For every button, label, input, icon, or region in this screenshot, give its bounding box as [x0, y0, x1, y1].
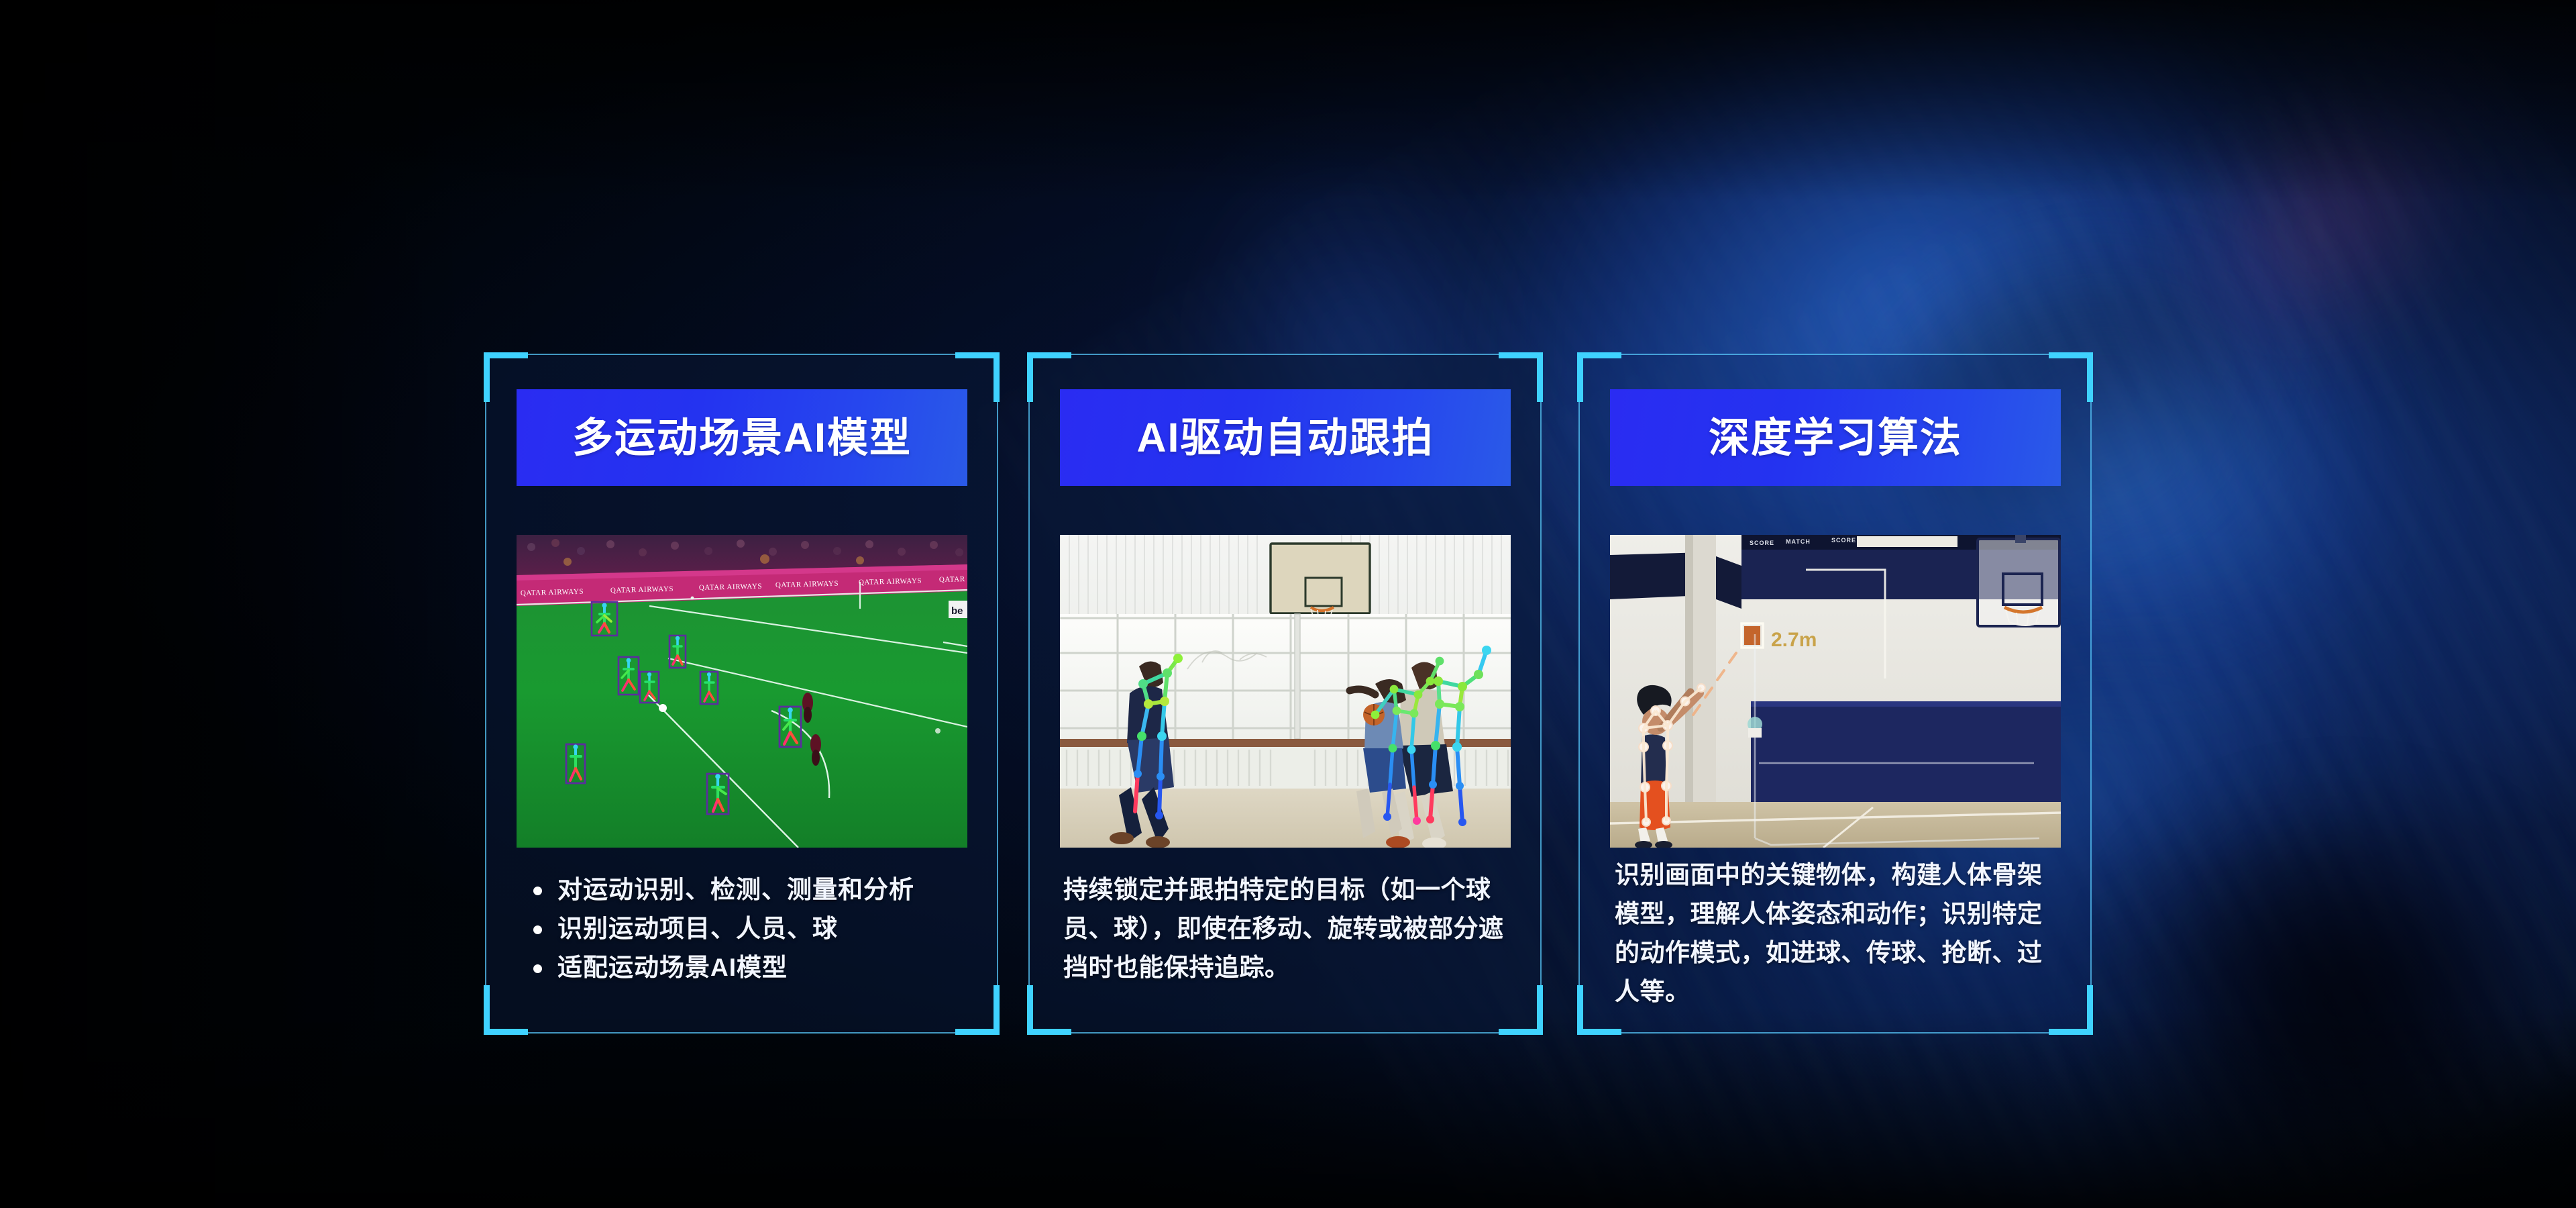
svg-text:QATAR AIRWAYS: QATAR AIRWAYS [699, 583, 762, 592]
svg-text:SCORE: SCORE [1750, 540, 1774, 546]
card-title: AI驱动自动跟拍 [1136, 417, 1434, 458]
court-scene-svg: SCOREMATCHSCORE [1610, 535, 2061, 848]
card-header-bar: 深度学习算法 [1610, 389, 2061, 486]
card-body: 对运动识别、检测、测量和分析 识别运动项目、人员、球 适配运动场景AI模型 [516, 870, 972, 987]
card-title: 多运动场景AI模型 [572, 417, 912, 458]
svg-text:QATAR: QATAR [939, 575, 965, 584]
soccer-scene-svg: QATAR AIRWAYS QATAR AIRWAYS QATAR AIRWAY… [517, 535, 967, 848]
svg-text:MATCH: MATCH [1786, 538, 1811, 545]
card-body: 持续锁定并跟拍特定的目标（如一个球员、球），即使在移动、旋转或被部分遮挡时也能保… [1059, 870, 1515, 987]
svg-text:QATAR AIRWAYS: QATAR AIRWAYS [521, 588, 584, 597]
svg-text:QATAR AIRWAYS: QATAR AIRWAYS [610, 585, 674, 595]
soccer-pose-detection-image: QATAR AIRWAYS QATAR AIRWAYS QATAR AIRWAY… [517, 535, 967, 848]
feature-card-deep-learning-algorithm[interactable]: 深度学习算法 [1578, 354, 2092, 1034]
svg-text:QATAR AIRWAYS: QATAR AIRWAYS [859, 577, 922, 587]
card-title: 深度学习算法 [1709, 417, 1962, 458]
feature-bullet-list: 对运动识别、检测、测量和分析 识别运动项目、人员、球 适配运动场景AI模型 [516, 870, 972, 987]
feature-card-ai-auto-tracking[interactable]: AI驱动自动跟拍 [1028, 354, 1542, 1034]
list-item: 识别运动项目、人员、球 [516, 909, 972, 948]
svg-text:be: be [951, 605, 963, 617]
card-header-bar: AI驱动自动跟拍 [1060, 389, 1511, 486]
basketball-shot-trajectory-image: SCOREMATCHSCORE [1610, 535, 2061, 848]
svg-text:SCORE: SCORE [1831, 537, 1856, 544]
svg-text:QATAR AIRWAYS: QATAR AIRWAYS [775, 580, 839, 589]
gym-scene-svg [1060, 535, 1511, 848]
feature-card-multi-sport-ai-model[interactable]: 多运动场景AI模型 [485, 354, 998, 1034]
basketball-gym-pose-tracking-image [1060, 535, 1511, 848]
card-header-bar: 多运动场景AI模型 [517, 389, 967, 486]
card-description: 识别画面中的关键物体，构建人体骨架模型，理解人体姿态和动作；识别特定的动作模式，… [1609, 856, 2065, 1011]
measurement-label: 2.7m [1771, 629, 1817, 651]
list-item: 对运动识别、检测、测量和分析 [516, 870, 972, 909]
card-description: 持续锁定并跟拍特定的目标（如一个球员、球），即使在移动、旋转或被部分遮挡时也能保… [1059, 870, 1515, 987]
card-body: 识别画面中的关键物体，构建人体骨架模型，理解人体姿态和动作；识别特定的动作模式，… [1609, 856, 2065, 1011]
list-item: 适配运动场景AI模型 [516, 948, 972, 987]
